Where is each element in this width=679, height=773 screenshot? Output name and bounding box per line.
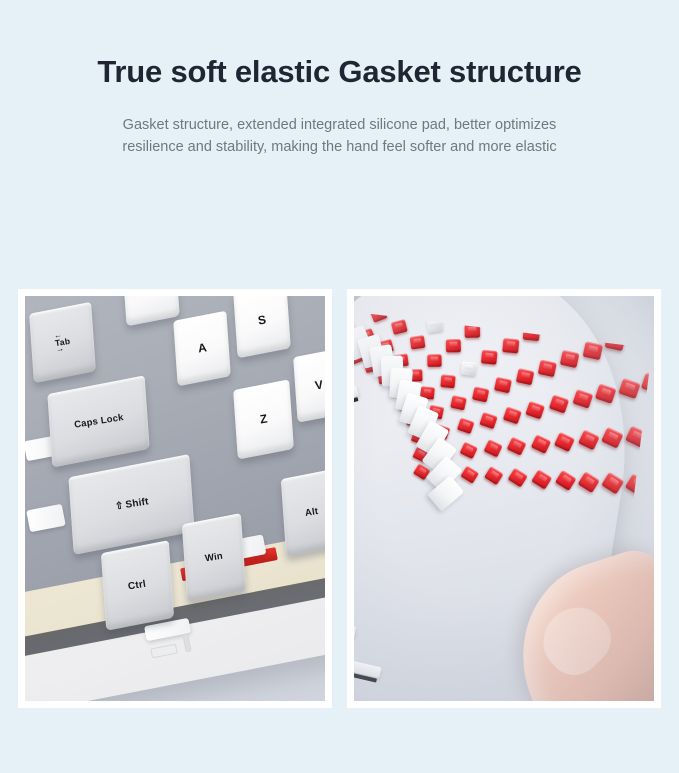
photo-frame-left: G S A V Z ← Tab → bbox=[18, 289, 332, 708]
mechanical-switch bbox=[572, 390, 593, 410]
mechanical-switch bbox=[554, 470, 576, 491]
mechanical-switch bbox=[484, 467, 504, 486]
mechanical-switch bbox=[516, 368, 535, 385]
photo-gallery: G S A V Z ← Tab → bbox=[18, 289, 661, 708]
mechanical-switch bbox=[578, 472, 600, 494]
mechanical-switch bbox=[450, 396, 467, 411]
keycap-alt: Alt bbox=[281, 469, 325, 557]
mechanical-switch bbox=[410, 336, 426, 350]
mechanical-switch bbox=[582, 341, 603, 360]
mechanical-switch bbox=[507, 468, 527, 488]
mechanical-switch bbox=[604, 332, 625, 352]
stabilizer-bar bbox=[354, 661, 382, 678]
shift-arrow-icon: ⇧ bbox=[114, 500, 124, 512]
keyboard-corner-photo: G S A V Z ← Tab → bbox=[25, 296, 325, 701]
mechanical-switch bbox=[446, 340, 461, 353]
mechanical-switch bbox=[538, 359, 557, 377]
mechanical-switch bbox=[484, 439, 503, 457]
mechanical-switch bbox=[531, 469, 552, 489]
mechanical-switch bbox=[560, 350, 580, 368]
mechanical-switch bbox=[578, 430, 600, 451]
mechanical-switch bbox=[481, 350, 498, 365]
mechanical-switch bbox=[502, 338, 519, 354]
keycap-win: Win bbox=[182, 513, 246, 602]
keycap-s: S bbox=[233, 296, 291, 358]
mechanical-switch bbox=[601, 428, 624, 450]
mechanical-switch bbox=[472, 387, 489, 403]
mechanical-switch bbox=[391, 320, 408, 336]
mechanical-switch bbox=[507, 437, 527, 456]
mechanical-switch bbox=[549, 395, 569, 414]
mechanical-switch bbox=[461, 362, 477, 377]
mechanical-switch bbox=[427, 355, 442, 368]
page-subtitle: Gasket structure, extended integrated si… bbox=[114, 114, 566, 158]
mechanical-switch bbox=[595, 384, 617, 404]
tab-arrows-icon: ← Tab → bbox=[53, 331, 71, 354]
stabilizer-bar bbox=[354, 385, 359, 404]
mechanical-switch bbox=[602, 473, 625, 496]
mechanical-switch bbox=[641, 372, 652, 394]
mechanical-switch bbox=[554, 433, 575, 453]
mechanical-switch bbox=[494, 378, 512, 395]
page-title: True soft elastic Gasket structure bbox=[90, 52, 590, 92]
mechanical-switch bbox=[457, 418, 475, 435]
keycap-v: V bbox=[293, 348, 325, 422]
mechanical-switch bbox=[464, 325, 480, 339]
mechanical-switch bbox=[625, 426, 648, 448]
keycap-z: Z bbox=[233, 379, 294, 459]
photo-frame-right bbox=[347, 289, 661, 708]
mechanical-switch bbox=[440, 374, 455, 388]
flexible-pcb-photo bbox=[354, 296, 654, 701]
keycap-ctrl: Ctrl bbox=[101, 540, 174, 630]
mechanical-switch bbox=[503, 407, 522, 425]
header-block: True soft elastic Gasket structure Gaske… bbox=[0, 0, 679, 158]
mechanical-switch bbox=[460, 442, 478, 460]
mechanical-switch bbox=[526, 401, 546, 420]
mechanical-switch bbox=[480, 412, 498, 429]
mechanical-switch bbox=[626, 323, 648, 343]
mechanical-switch bbox=[618, 378, 640, 399]
fingernail bbox=[530, 595, 622, 687]
mechanical-switch bbox=[460, 466, 479, 484]
mechanical-switch bbox=[625, 474, 649, 497]
mechanical-switch bbox=[531, 435, 552, 455]
keycap-a: A bbox=[173, 311, 231, 386]
stabilizer-bar bbox=[354, 623, 356, 638]
keycap-tab: ← Tab → bbox=[29, 302, 96, 383]
product-feature-page: True soft elastic Gasket structure Gaske… bbox=[0, 0, 679, 773]
